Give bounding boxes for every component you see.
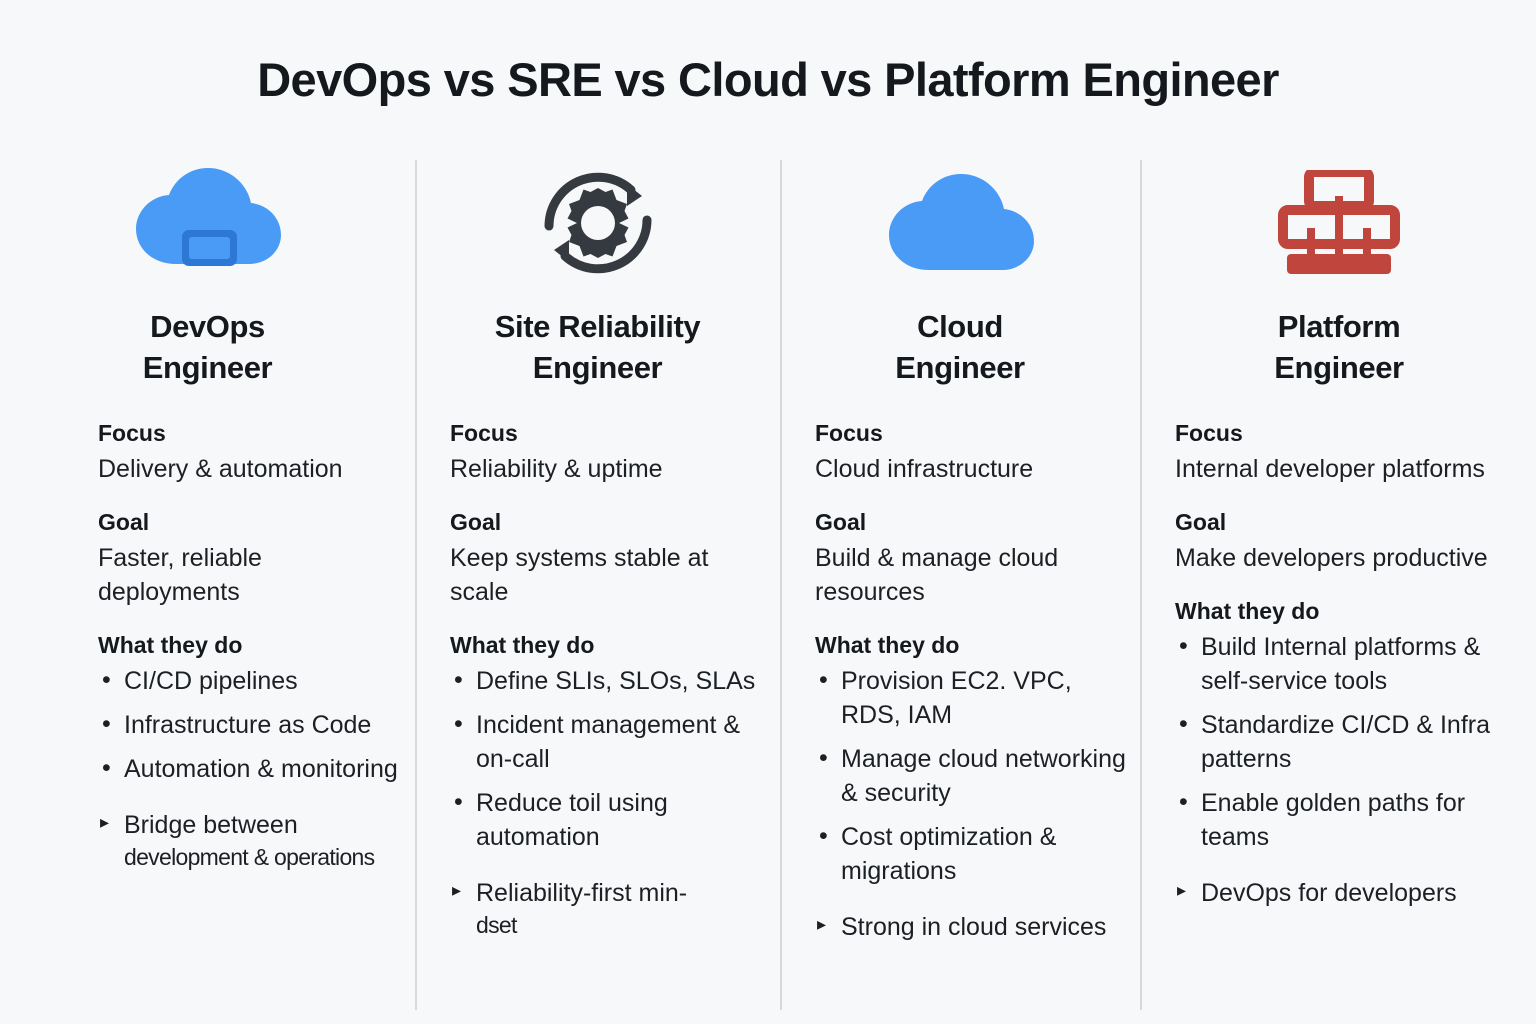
list-item: CI/CD pipelines — [98, 664, 403, 698]
goal-label: Goal — [1175, 508, 1526, 538]
column-devops-engineer: DevOps Engineer Focus Delivery & automat… — [0, 160, 415, 1024]
highlight-line-1: DevOps for developers — [1201, 879, 1457, 907]
highlight-line-2: dset — [476, 910, 768, 941]
what-they-do-label: What they do — [450, 631, 768, 661]
focus-label: Focus — [98, 419, 403, 449]
goal-value: Build & manage cloud resources — [815, 541, 1128, 609]
list-item-highlight: Strong in cloud services — [815, 910, 1128, 944]
platform-stack-icon — [1152, 160, 1526, 285]
column-sections: Focus Reliability & uptime Goal Keep sys… — [450, 419, 768, 942]
column-heading: DevOps Engineer — [12, 307, 403, 389]
goal-label: Goal — [98, 508, 403, 538]
list-item: Infrastructure as Code — [98, 708, 403, 742]
list-item: Provision EC2. VPC, RDS, IAM — [815, 664, 1128, 732]
column-sections: Focus Delivery & automation Goal Faster,… — [98, 419, 403, 874]
what-they-do-block: What they do Provision EC2. VPC, RDS, IA… — [815, 631, 1128, 945]
list-item: Reduce toil using automation — [450, 786, 768, 854]
list-item-highlight: Reliability-first min- dset — [450, 876, 768, 941]
list-item: Build Internal platforms & self-service … — [1175, 630, 1526, 698]
list-item-highlight: DevOps for developers — [1175, 876, 1526, 910]
heading-line-1: Platform — [1152, 307, 1526, 348]
column-heading: Cloud Engineer — [792, 307, 1128, 389]
what-they-do-block: What they do CI/CD pipelines Infrastruct… — [98, 631, 403, 874]
cloud-icon — [792, 160, 1128, 285]
column-site-reliability-engineer: Site Reliability Engineer Focus Reliabil… — [415, 160, 780, 1024]
focus-label: Focus — [450, 419, 768, 449]
list-item: Enable golden paths for teams — [1175, 786, 1526, 854]
highlight-line-1: Bridge between — [124, 811, 298, 839]
highlight-line-2: development & operations — [124, 842, 403, 873]
goal-label: Goal — [450, 508, 768, 538]
heading-line-1: DevOps — [12, 307, 403, 348]
comparison-columns: DevOps Engineer Focus Delivery & automat… — [0, 160, 1536, 1024]
focus-label: Focus — [1175, 419, 1526, 449]
heading-line-2: Engineer — [12, 348, 403, 389]
focus-value: Reliability & uptime — [450, 452, 768, 486]
goal-value: Make developers productive — [1175, 541, 1526, 575]
what-they-do-block: What they do Build Internal platforms & … — [1175, 597, 1526, 911]
focus-block: Focus Cloud infrastructure — [815, 419, 1128, 486]
list-item: Define SLIs, SLOs, SLAs — [450, 664, 768, 698]
focus-block: Focus Delivery & automation — [98, 419, 403, 486]
goal-block: Goal Faster, reliable deployments — [98, 508, 403, 609]
focus-value: Internal developer platforms — [1175, 452, 1526, 486]
column-sections: Focus Cloud infrastructure Goal Build & … — [815, 419, 1128, 945]
focus-label: Focus — [815, 419, 1128, 449]
what-they-do-list: Define SLIs, SLOs, SLAs Incident managem… — [450, 664, 768, 941]
what-they-do-list: CI/CD pipelines Infrastructure as Code A… — [98, 664, 403, 873]
column-cloud-engineer: Cloud Engineer Focus Cloud infrastructur… — [780, 160, 1140, 1024]
list-item: Cost optimization & migrations — [815, 820, 1128, 888]
goal-block: Goal Build & manage cloud resources — [815, 508, 1128, 609]
heading-line-1: Cloud — [792, 307, 1128, 348]
goal-value: Faster, reliable deployments — [98, 541, 403, 609]
what-they-do-label: What they do — [815, 631, 1128, 661]
what-they-do-label: What they do — [1175, 597, 1526, 627]
highlight-line-1: Reliability-first min- — [476, 879, 687, 907]
focus-block: Focus Reliability & uptime — [450, 419, 768, 486]
goal-label: Goal — [815, 508, 1128, 538]
page-title: DevOps vs SRE vs Cloud vs Platform Engin… — [0, 52, 1536, 107]
goal-block: Goal Make developers productive — [1175, 508, 1526, 575]
heading-line-2: Engineer — [792, 348, 1128, 389]
list-item: Incident management & on-call — [450, 708, 768, 776]
focus-value: Delivery & automation — [98, 452, 403, 486]
focus-value: Cloud infrastructure — [815, 452, 1128, 486]
list-item: Standardize CI/CD & Infra patterns — [1175, 708, 1526, 776]
heading-line-1: Site Reliability — [427, 307, 768, 348]
what-they-do-list: Build Internal platforms & self-service … — [1175, 630, 1526, 910]
cloud-server-icon — [12, 160, 403, 285]
heading-line-2: Engineer — [427, 348, 768, 389]
what-they-do-block: What they do Define SLIs, SLOs, SLAs Inc… — [450, 631, 768, 942]
list-item-highlight: Bridge between development & operations — [98, 808, 403, 873]
what-they-do-list: Provision EC2. VPC, RDS, IAM Manage clou… — [815, 664, 1128, 944]
heading-line-2: Engineer — [1152, 348, 1526, 389]
column-heading: Site Reliability Engineer — [427, 307, 768, 389]
column-platform-engineer: Platform Engineer Focus Internal develop… — [1140, 160, 1536, 1024]
column-sections: Focus Internal developer platforms Goal … — [1175, 419, 1526, 911]
goal-value: Keep systems stable at scale — [450, 541, 768, 609]
what-they-do-label: What they do — [98, 631, 403, 661]
column-heading: Platform Engineer — [1152, 307, 1526, 389]
list-item: Manage cloud networking & security — [815, 742, 1128, 810]
gear-refresh-icon — [427, 160, 768, 285]
focus-block: Focus Internal developer platforms — [1175, 419, 1526, 486]
highlight-line-1: Strong in cloud services — [841, 913, 1106, 941]
goal-block: Goal Keep systems stable at scale — [450, 508, 768, 609]
list-item: Automation & monitoring — [98, 752, 403, 786]
